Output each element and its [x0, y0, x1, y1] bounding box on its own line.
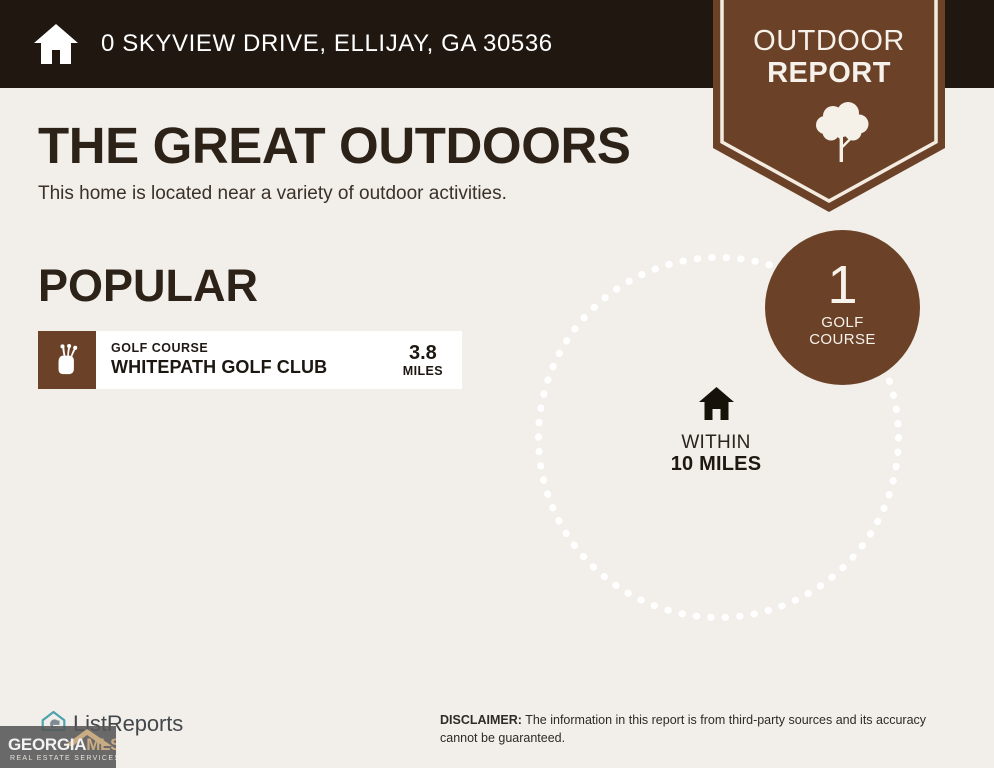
count-label-line1: GOLF	[809, 315, 876, 332]
disclaimer: DISCLAIMER: The information in this repo…	[440, 711, 960, 747]
home-icon	[33, 22, 79, 66]
watermark-brand-georgia: GEORGIA	[8, 735, 86, 754]
distance-value: 3.8	[403, 342, 443, 364]
home-icon	[698, 386, 735, 421]
georgia-mls-watermark: GEORGIAMLS REAL ESTATE SERVICES	[0, 726, 116, 768]
outdoor-report-page: 0 SKYVIEW DRIVE, ELLIJAY, GA 30536 OUTDO…	[0, 0, 994, 768]
disclaimer-label: DISCLAIMER:	[440, 713, 522, 727]
list-item-category: GOLF COURSE	[111, 341, 327, 357]
page-title: THE GREAT OUTDOORS	[38, 120, 631, 171]
property-address: 0 SKYVIEW DRIVE, ELLIJAY, GA 30536	[101, 30, 553, 58]
list-item-body: GOLF COURSE WHITEPATH GOLF CLUB	[96, 331, 403, 389]
count-label: GOLF COURSE	[809, 315, 876, 349]
tree-icon	[815, 100, 869, 164]
count-bubble-golf-course: 1 GOLF COURSE	[765, 230, 920, 385]
section-title-popular: POPULAR	[38, 263, 258, 308]
list-item-name: WHITEPATH GOLF CLUB	[111, 357, 327, 379]
list-item-distance: 3.8 MILES	[403, 331, 462, 389]
radius-within-distance: 10 MILES	[566, 453, 866, 476]
watermark-brand-mls: MLS	[86, 735, 116, 754]
outdoor-report-badge: OUTDOOR REPORT	[713, 0, 945, 212]
list-item[interactable]: GOLF COURSE WHITEPATH GOLF CLUB 3.8 MILE…	[38, 331, 462, 389]
golf-bag-icon	[38, 331, 96, 389]
radius-within-label: WITHIN	[566, 432, 866, 454]
badge-title-line2: REPORT	[713, 59, 945, 88]
count-label-line2: COURSE	[809, 332, 876, 349]
count-value: 1	[827, 262, 857, 310]
badge-title-line1: OUTDOOR	[713, 27, 945, 56]
page-subtitle: This home is located near a variety of o…	[38, 183, 507, 205]
watermark-tagline: REAL ESTATE SERVICES	[10, 755, 116, 762]
distance-unit: MILES	[403, 364, 443, 378]
watermark-brand: GEORGIAMLS	[8, 735, 116, 755]
